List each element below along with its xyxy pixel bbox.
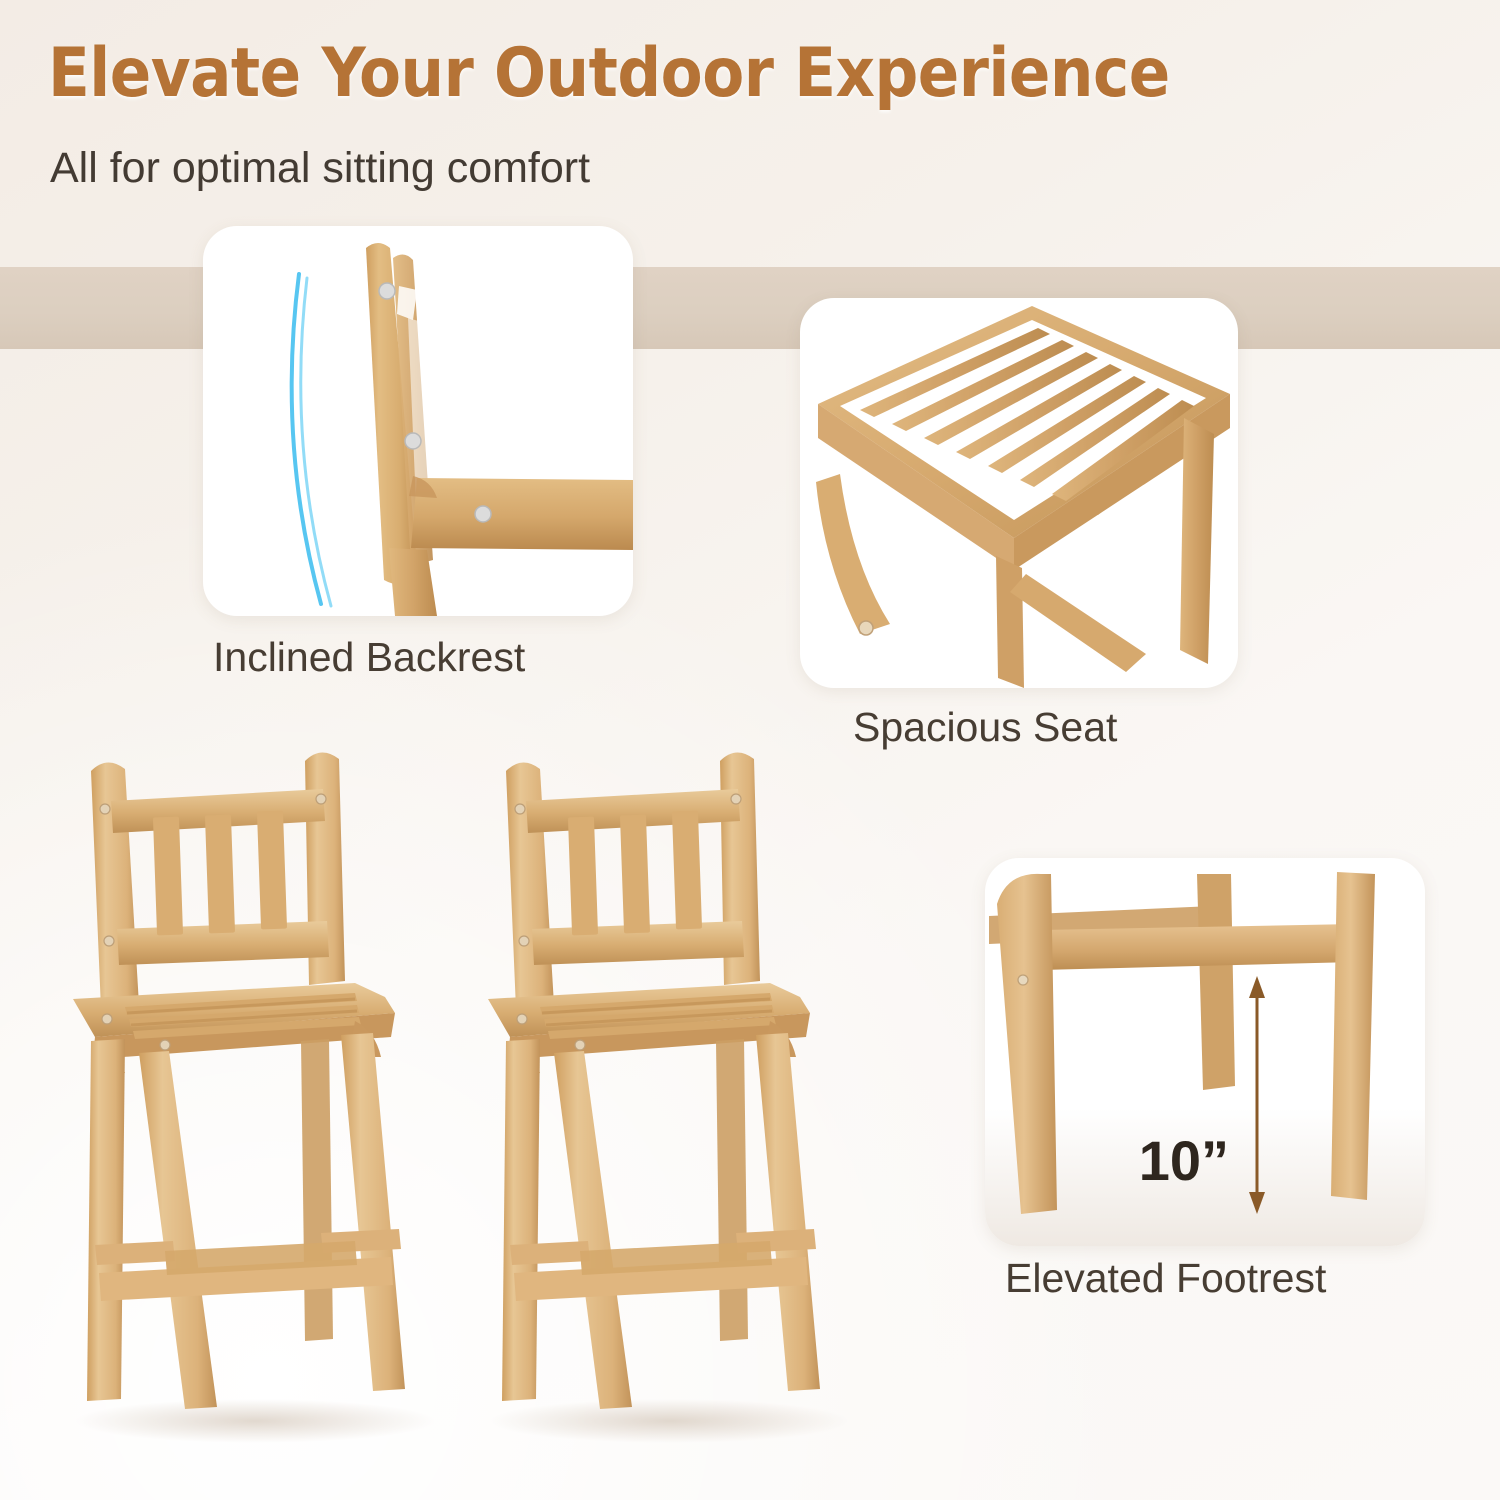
feature-caption-elevated-footrest: Elevated Footrest (1005, 1255, 1326, 1302)
feature-card-inclined-backrest (203, 226, 633, 616)
screw-icon (859, 621, 873, 635)
feature-card-elevated-footrest: 10” (985, 858, 1425, 1246)
screw-icon (379, 283, 395, 299)
product-barstool-right (470, 745, 870, 1445)
feature-caption-spacious-seat: Spacious Seat (853, 704, 1117, 751)
page-title: Elevate Your Outdoor Experience (48, 34, 1170, 113)
elevated-footrest-detail: 10” (985, 858, 1425, 1246)
inclined-backrest-detail (203, 226, 633, 616)
product-barstool-left (55, 745, 455, 1445)
screw-icon (1018, 975, 1028, 985)
dimension-label: 10” (1139, 1129, 1229, 1192)
screw-icon (475, 506, 491, 522)
spacious-seat-detail (800, 298, 1238, 688)
feature-caption-inclined-backrest: Inclined Backrest (213, 634, 525, 681)
barstool-illustration (55, 745, 455, 1445)
barstool-illustration (470, 745, 870, 1445)
page-subtitle: All for optimal sitting comfort (50, 144, 590, 193)
feature-card-spacious-seat (800, 298, 1238, 688)
product-feature-infographic: Elevate Your Outdoor Experience All for … (0, 0, 1500, 1500)
screw-icon (405, 433, 421, 449)
